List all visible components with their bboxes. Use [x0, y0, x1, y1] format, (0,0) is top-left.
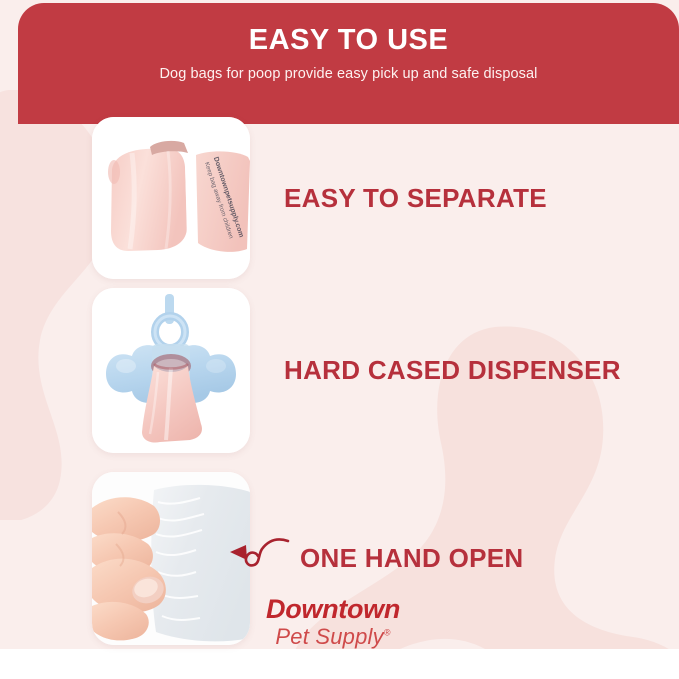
- header-banner: EASY TO USE Dog bags for poop provide ea…: [18, 3, 679, 124]
- feature-label-dispenser: HARD CASED DISPENSER: [284, 355, 621, 386]
- feature-image-card: [92, 472, 250, 645]
- bone-dispenser-image: [92, 288, 250, 453]
- page-subtitle: Dog bags for poop provide easy pick up a…: [18, 66, 679, 82]
- infographic-page: EASY TO USE Dog bags for poop provide ea…: [0, 0, 679, 679]
- feature-label-separate: EASY TO SEPARATE: [284, 183, 547, 214]
- feature-image-card: [92, 288, 250, 453]
- registered-trademark-icon: ®: [384, 628, 391, 638]
- brand-logo: Downtown Pet Supply®: [266, 596, 400, 648]
- brand-name-line1: Downtown: [266, 596, 400, 623]
- feature-row-separate: Downtownpetsupply.com Keep bag away from…: [0, 117, 679, 279]
- feature-image-card: Downtownpetsupply.com Keep bag away from…: [92, 117, 250, 279]
- brand-name-line2-text: Pet Supply: [275, 624, 383, 649]
- page-title: EASY TO USE: [18, 25, 679, 57]
- pink-bag-roll-image: Downtownpetsupply.com Keep bag away from…: [92, 117, 250, 279]
- bottom-white-strip: [0, 649, 679, 679]
- curly-left-arrow-icon: [228, 531, 290, 573]
- brand-name-line2: Pet Supply®: [266, 626, 400, 648]
- hand-opening-bag-image: [92, 472, 250, 645]
- feature-row-dispenser: HARD CASED DISPENSER: [0, 288, 679, 453]
- feature-label-one-hand: ONE HAND OPEN: [300, 543, 523, 574]
